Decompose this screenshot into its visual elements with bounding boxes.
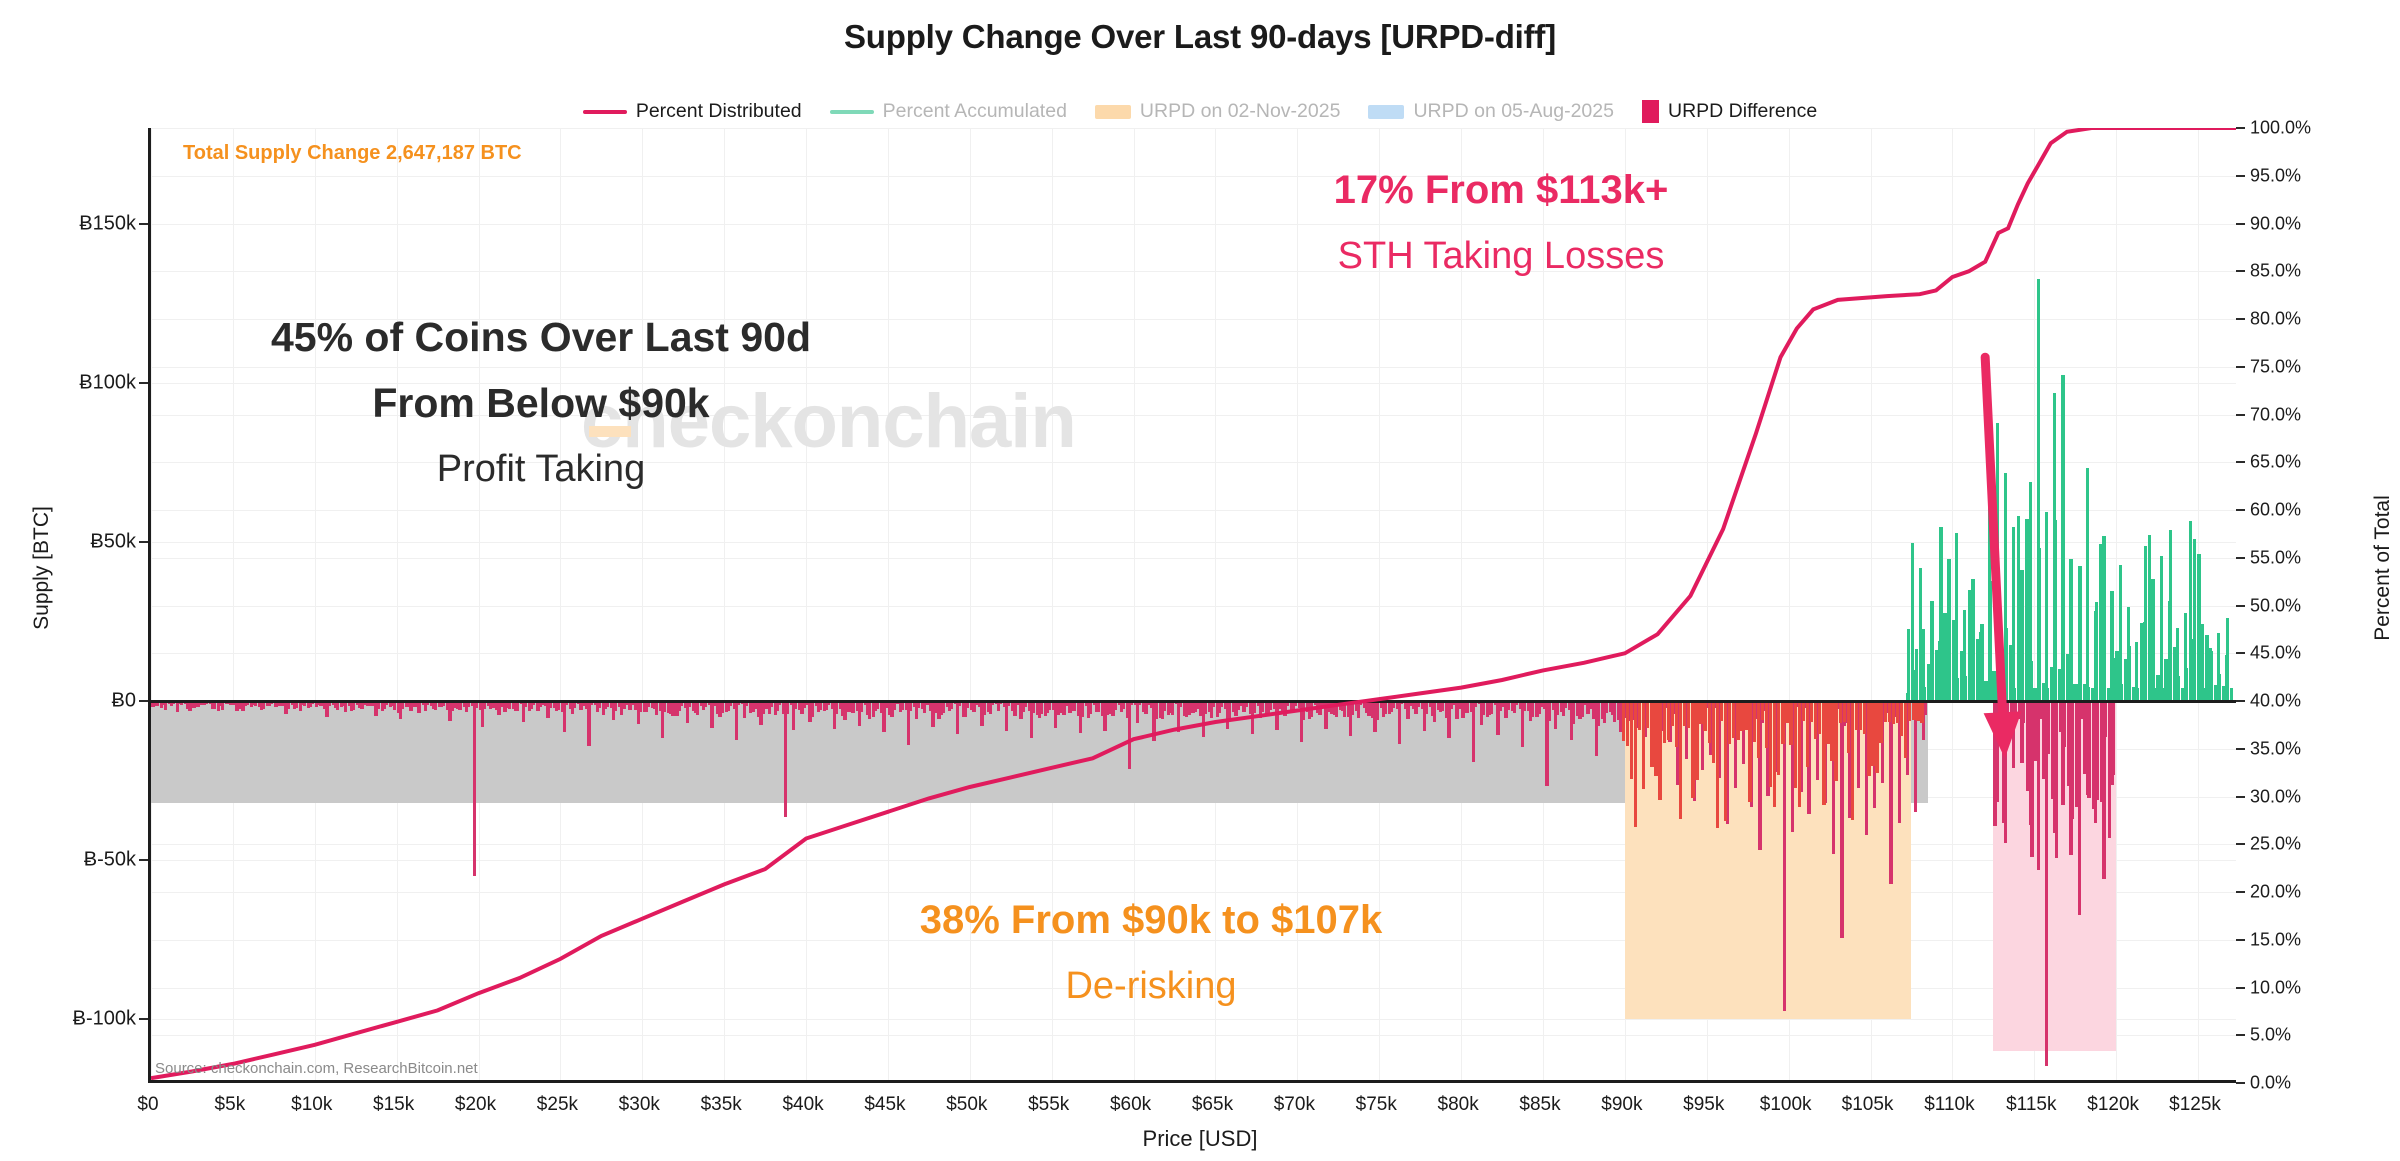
- y-axis-right-tick-label: 55.0%: [2250, 547, 2380, 568]
- y-axis-left-tick-label: Ƀ50k: [6, 530, 136, 553]
- x-axis-tick-label: $105k: [1842, 1094, 1894, 1116]
- legend-label: Percent Accumulated: [883, 100, 1067, 123]
- x-axis-tick-label: $5k: [215, 1094, 246, 1116]
- legend-item-urpd-on-02-nov-2025[interactable]: URPD on 02-Nov-2025: [1095, 100, 1341, 123]
- callout-line-2: From Below $90k: [191, 380, 891, 428]
- y-axis-right-tick-mark: [2236, 509, 2245, 511]
- x-axis-tick-label: $50k: [946, 1094, 987, 1116]
- y-axis-right-tick-mark: [2236, 891, 2245, 893]
- legend-square-marker: [1642, 100, 1659, 123]
- page-title: Supply Change Over Last 90-days [URPD-di…: [0, 18, 2400, 56]
- x-axis-tick-label: $20k: [455, 1094, 496, 1116]
- y-axis-right-tick-mark: [2236, 557, 2245, 559]
- x-axis-tick-label: $125k: [2169, 1094, 2221, 1116]
- y-axis-right-tick-label: 40.0%: [2250, 691, 2380, 712]
- y-axis-right-tick-label: 80.0%: [2250, 309, 2380, 330]
- y-axis-right-tick-mark: [2236, 414, 2245, 416]
- x-axis-tick-label: $75k: [1356, 1094, 1397, 1116]
- y-axis-right-tick-mark: [2236, 366, 2245, 368]
- y-axis-right-tick-label: 30.0%: [2250, 786, 2380, 807]
- y-axis-right-tick-mark: [2236, 652, 2245, 654]
- x-axis-tick-label: $30k: [619, 1094, 660, 1116]
- y-axis-right-tick-mark: [2236, 748, 2245, 750]
- y-axis-right-tick-label: 85.0%: [2250, 261, 2380, 282]
- y-axis-left-tick-label: Ƀ150k: [6, 212, 136, 235]
- y-axis-right-tick-mark: [2236, 318, 2245, 320]
- y-axis-left-tick-mark: [139, 700, 148, 702]
- x-axis-tick-label: $120k: [2087, 1094, 2139, 1116]
- y-axis-right-tick-mark: [2236, 796, 2245, 798]
- y-axis-left-title: Supply [BTC]: [30, 506, 54, 630]
- callout-line-2: De-risking: [841, 962, 1461, 1011]
- y-axis-right-tick-label: 100.0%: [2250, 118, 2380, 139]
- y-axis-right-tick-mark: [2236, 843, 2245, 845]
- x-axis-tick-label: $55k: [1028, 1094, 1069, 1116]
- callout-line-3: Profit Taking: [191, 445, 891, 494]
- y-axis-right-tick-label: 35.0%: [2250, 738, 2380, 759]
- callout-line-1: 17% From $113k+: [1241, 166, 1761, 214]
- y-axis-right-tick-label: 10.0%: [2250, 977, 2380, 998]
- profit-taking-callout: 45% of Coins Over Last 90d From Below $9…: [191, 296, 891, 512]
- y-axis-right-tick-label: 95.0%: [2250, 165, 2380, 186]
- y-axis-right-tick-label: 0.0%: [2250, 1073, 2380, 1094]
- x-axis-tick-label: $40k: [782, 1094, 823, 1116]
- y-axis-right-tick-label: 60.0%: [2250, 500, 2380, 521]
- y-axis-right-tick-mark: [2236, 175, 2245, 177]
- y-axis-left-tick-label: Ƀ100k: [6, 371, 136, 394]
- callout-line-1: 45% of Coins Over Last 90d: [191, 314, 891, 362]
- legend-label: Percent Distributed: [636, 100, 802, 123]
- legend-item-urpd-on-05-aug-2025[interactable]: URPD on 05-Aug-2025: [1368, 100, 1614, 123]
- y-axis-right-tick-label: 75.0%: [2250, 356, 2380, 377]
- x-axis-tick-label: $15k: [373, 1094, 414, 1116]
- y-axis-right-tick-label: 20.0%: [2250, 882, 2380, 903]
- y-axis-right-tick-mark: [2236, 700, 2245, 702]
- x-axis-tick-label: $100k: [1760, 1094, 1812, 1116]
- x-axis-tick-label: $45k: [864, 1094, 905, 1116]
- legend-label: URPD on 02-Nov-2025: [1140, 100, 1341, 123]
- y-axis-right-tick-label: 15.0%: [2250, 929, 2380, 950]
- x-axis-tick-label: $60k: [1110, 1094, 1151, 1116]
- de-risking-callout: 38% From $90k to $107k De-risking: [841, 878, 1461, 1029]
- y-axis-right-tick-mark: [2236, 1034, 2245, 1036]
- chart-root: Supply Change Over Last 90-days [URPD-di…: [0, 0, 2400, 1161]
- source-note: Source: checkonchain.com, ResearchBitcoi…: [155, 1060, 478, 1077]
- total-supply-change-annotation: Total Supply Change 2,647,187 BTC: [183, 142, 522, 165]
- legend-line-marker: [830, 110, 874, 114]
- x-axis-tick-label: $80k: [1438, 1094, 1479, 1116]
- y-axis-right-tick-mark: [2236, 127, 2245, 129]
- x-axis-tick-label: $110k: [1924, 1094, 1974, 1116]
- x-axis-tick-label: $65k: [1192, 1094, 1233, 1116]
- x-axis-tick-label: $70k: [1274, 1094, 1315, 1116]
- legend-swatch-marker: [1368, 105, 1404, 119]
- y-axis-left-tick-mark: [139, 859, 148, 861]
- x-axis-tick-label: $95k: [1683, 1094, 1724, 1116]
- y-axis-right-tick-mark: [2236, 987, 2245, 989]
- sth-losses-callout: 17% From $113k+ STH Taking Losses: [1241, 148, 1761, 299]
- x-axis-tick-label: $10k: [291, 1094, 332, 1116]
- y-axis-right-tick-mark: [2236, 1082, 2245, 1084]
- y-axis-left-tick-mark: [139, 382, 148, 384]
- x-axis-tick-label: $85k: [1519, 1094, 1560, 1116]
- legend-line-marker: [583, 110, 627, 114]
- y-axis-right-tick-label: 90.0%: [2250, 213, 2380, 234]
- legend-label: URPD Difference: [1668, 100, 1817, 123]
- y-axis-right-tick-mark: [2236, 461, 2245, 463]
- y-axis-right-tick-mark: [2236, 605, 2245, 607]
- x-axis-tick-label: $90k: [1601, 1094, 1642, 1116]
- legend-label: URPD on 05-Aug-2025: [1413, 100, 1614, 123]
- legend-item-percent-accumulated[interactable]: Percent Accumulated: [830, 100, 1067, 123]
- x-axis-tick-label: $115k: [2006, 1094, 2056, 1116]
- chart-legend: Percent DistributedPercent AccumulatedUR…: [0, 100, 2400, 123]
- plot-area: checkonchain Total Supply Change 2,647,1…: [148, 128, 2236, 1083]
- y-axis-right-tick-mark: [2236, 939, 2245, 941]
- y-axis-left-tick-label: Ƀ-100k: [6, 1008, 136, 1031]
- y-axis-right-tick-label: 5.0%: [2250, 1025, 2380, 1046]
- y-axis-left-tick-label: Ƀ0: [6, 690, 136, 713]
- y-axis-right-tick-label: 70.0%: [2250, 404, 2380, 425]
- y-axis-right-tick-label: 50.0%: [2250, 595, 2380, 616]
- y-axis-left-tick-label: Ƀ-50k: [6, 849, 136, 872]
- callout-line-2: STH Taking Losses: [1241, 232, 1761, 281]
- y-axis-right-title: Percent of Total: [2371, 495, 2395, 641]
- y-axis-left-tick-mark: [139, 541, 148, 543]
- y-axis-right-tick-label: 65.0%: [2250, 452, 2380, 473]
- y-axis-left-tick-mark: [139, 1018, 148, 1020]
- y-axis-right-tick-mark: [2236, 270, 2245, 272]
- callout-line-1: 38% From $90k to $107k: [841, 896, 1461, 944]
- legend-item-urpd-difference[interactable]: URPD Difference: [1642, 100, 1817, 123]
- y-axis-right-tick-label: 25.0%: [2250, 834, 2380, 855]
- y-axis-right-tick-mark: [2236, 223, 2245, 225]
- x-axis-tick-label: $25k: [537, 1094, 578, 1116]
- y-axis-left-tick-mark: [139, 223, 148, 225]
- x-axis-tick-label: $0: [137, 1094, 158, 1116]
- x-axis-tick-label: $35k: [701, 1094, 742, 1116]
- sth-loss-arrow: [1984, 357, 2022, 758]
- x-axis-title: Price [USD]: [0, 1126, 2400, 1152]
- legend-swatch-marker: [1095, 105, 1131, 119]
- legend-item-percent-distributed[interactable]: Percent Distributed: [583, 100, 802, 123]
- y-axis-right-tick-label: 45.0%: [2250, 643, 2380, 664]
